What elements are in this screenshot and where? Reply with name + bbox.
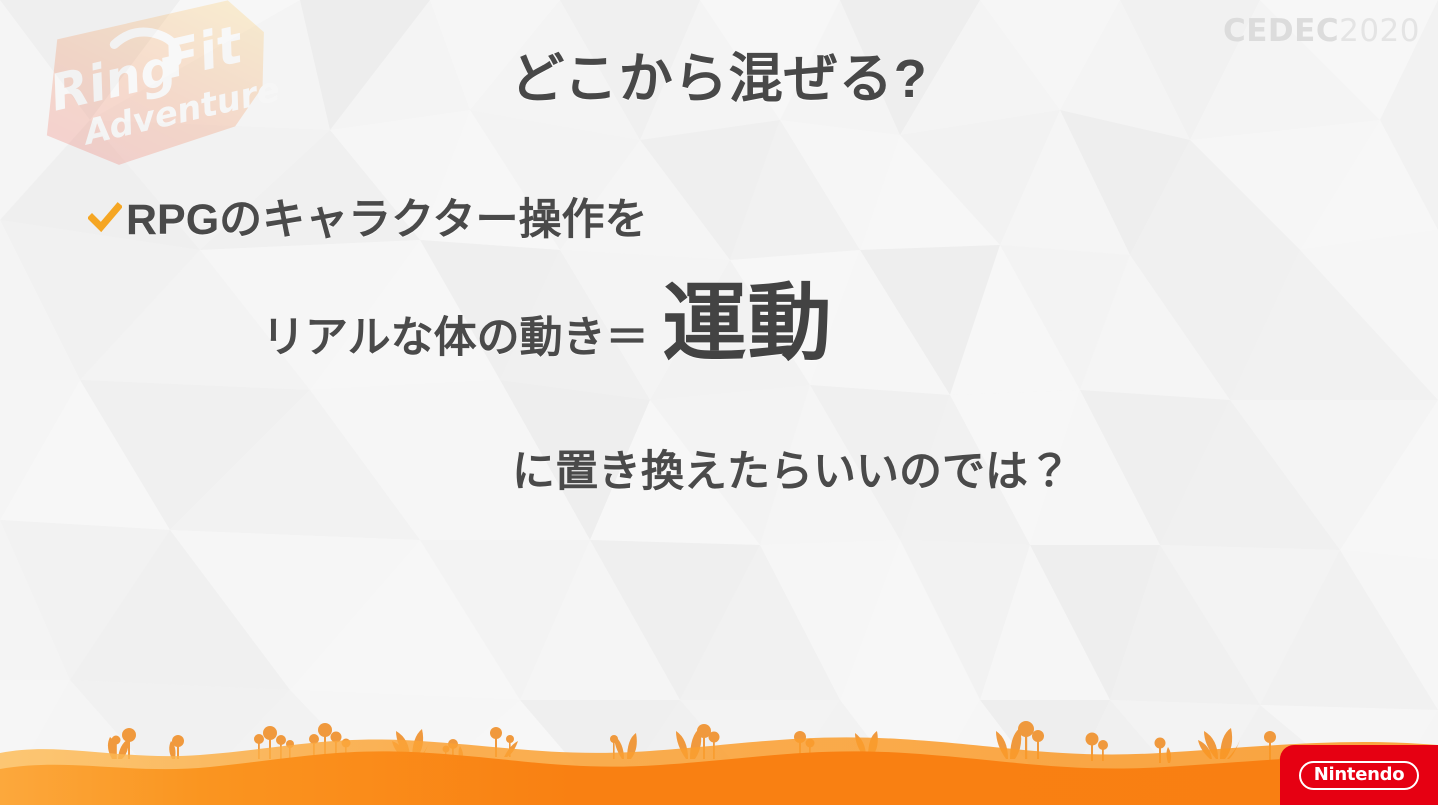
nintendo-logo-oval: Nintendo (1299, 761, 1420, 790)
bullet-line-1: RPGのキャラクター操作を (88, 185, 647, 247)
bullet-line-2-emphasis: 運動 (663, 286, 833, 362)
nintendo-logo-badge: Nintendo (1280, 745, 1438, 805)
cedec-logo-mark: CEDEC (1223, 16, 1339, 47)
slide-title: どこから混ぜる? (0, 50, 1438, 109)
bullet-line-1-text: RPGのキャラクター操作を (126, 185, 647, 247)
bullet-line-2-lead: リアルな体の動き＝ (262, 303, 649, 365)
background-polygon-texture (0, 0, 1438, 805)
bullet-line-2: リアルな体の動き＝ 運動 (262, 286, 833, 365)
cedec-conference-logo: CEDEC 2020 (1223, 14, 1420, 48)
nintendo-logo-text: Nintendo (1314, 766, 1405, 784)
presentation-slide: Ring Fit Adventure CEDEC 2020 どこから混ぜる? R… (0, 0, 1438, 805)
check-icon (88, 201, 122, 235)
cedec-logo-year: 2020 (1339, 16, 1420, 47)
bullet-line-3: に置き換えたらいいのでは？ (512, 437, 1071, 499)
